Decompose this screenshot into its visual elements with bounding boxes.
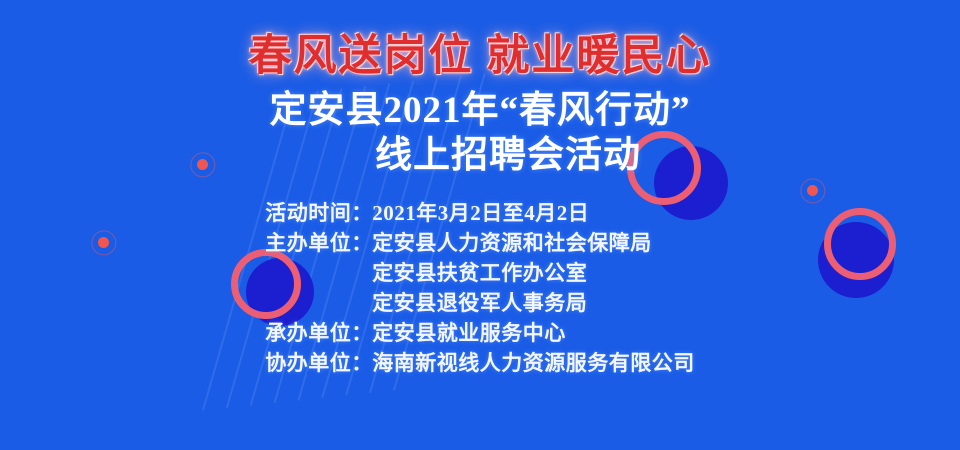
detail-row-host: 主办单位： 定安县人力资源和社会保障局 bbox=[265, 228, 695, 258]
subtitle-line-1: 定安县2021年“春风行动” bbox=[270, 90, 691, 131]
detail-label-time: 活动时间： bbox=[265, 198, 372, 228]
detail-value-host-3: 定安县退役军人事务局 bbox=[372, 288, 695, 318]
detail-row-coorganizer: 协办单位： 海南新视线人力资源服务有限公司 bbox=[265, 348, 695, 378]
detail-value-coorganizer: 海南新视线人力资源服务有限公司 bbox=[372, 348, 695, 378]
detail-row-host-2: 主办单位： 定安县扶贫工作办公室 bbox=[265, 258, 695, 288]
detail-row-host-3: 主办单位： 定安县退役军人事务局 bbox=[265, 288, 695, 318]
detail-value-host-1: 定安县人力资源和社会保障局 bbox=[372, 228, 695, 258]
detail-value-organizer: 定安县就业服务中心 bbox=[372, 318, 695, 348]
detail-value-time: 2021年3月2日至4月2日 bbox=[372, 198, 695, 228]
detail-row-time: 活动时间： 2021年3月2日至4月2日 bbox=[265, 198, 695, 228]
poster-content: 春风送岗位 就业暖民心 定安县2021年“春风行动” 线上招聘会活动 活动时间：… bbox=[0, 0, 960, 378]
poster-subtitle: 定安县2021年“春风行动” 线上招聘会活动 bbox=[0, 88, 960, 178]
poster-canvas: 春风送岗位 就业暖民心 定安县2021年“春风行动” 线上招聘会活动 活动时间：… bbox=[0, 0, 960, 450]
detail-label-organizer: 承办单位： bbox=[265, 318, 372, 348]
subtitle-line-2: 线上招聘会活动 bbox=[0, 133, 960, 178]
event-details: 活动时间： 2021年3月2日至4月2日 主办单位： 定安县人力资源和社会保障局… bbox=[265, 198, 695, 378]
poster-headline: 春风送岗位 就业暖民心 bbox=[0, 0, 960, 79]
detail-value-host-2: 定安县扶贫工作办公室 bbox=[372, 258, 695, 288]
detail-label-host: 主办单位： bbox=[265, 228, 372, 258]
detail-label-coorganizer: 协办单位： bbox=[265, 348, 372, 378]
detail-row-organizer: 承办单位： 定安县就业服务中心 bbox=[265, 318, 695, 348]
